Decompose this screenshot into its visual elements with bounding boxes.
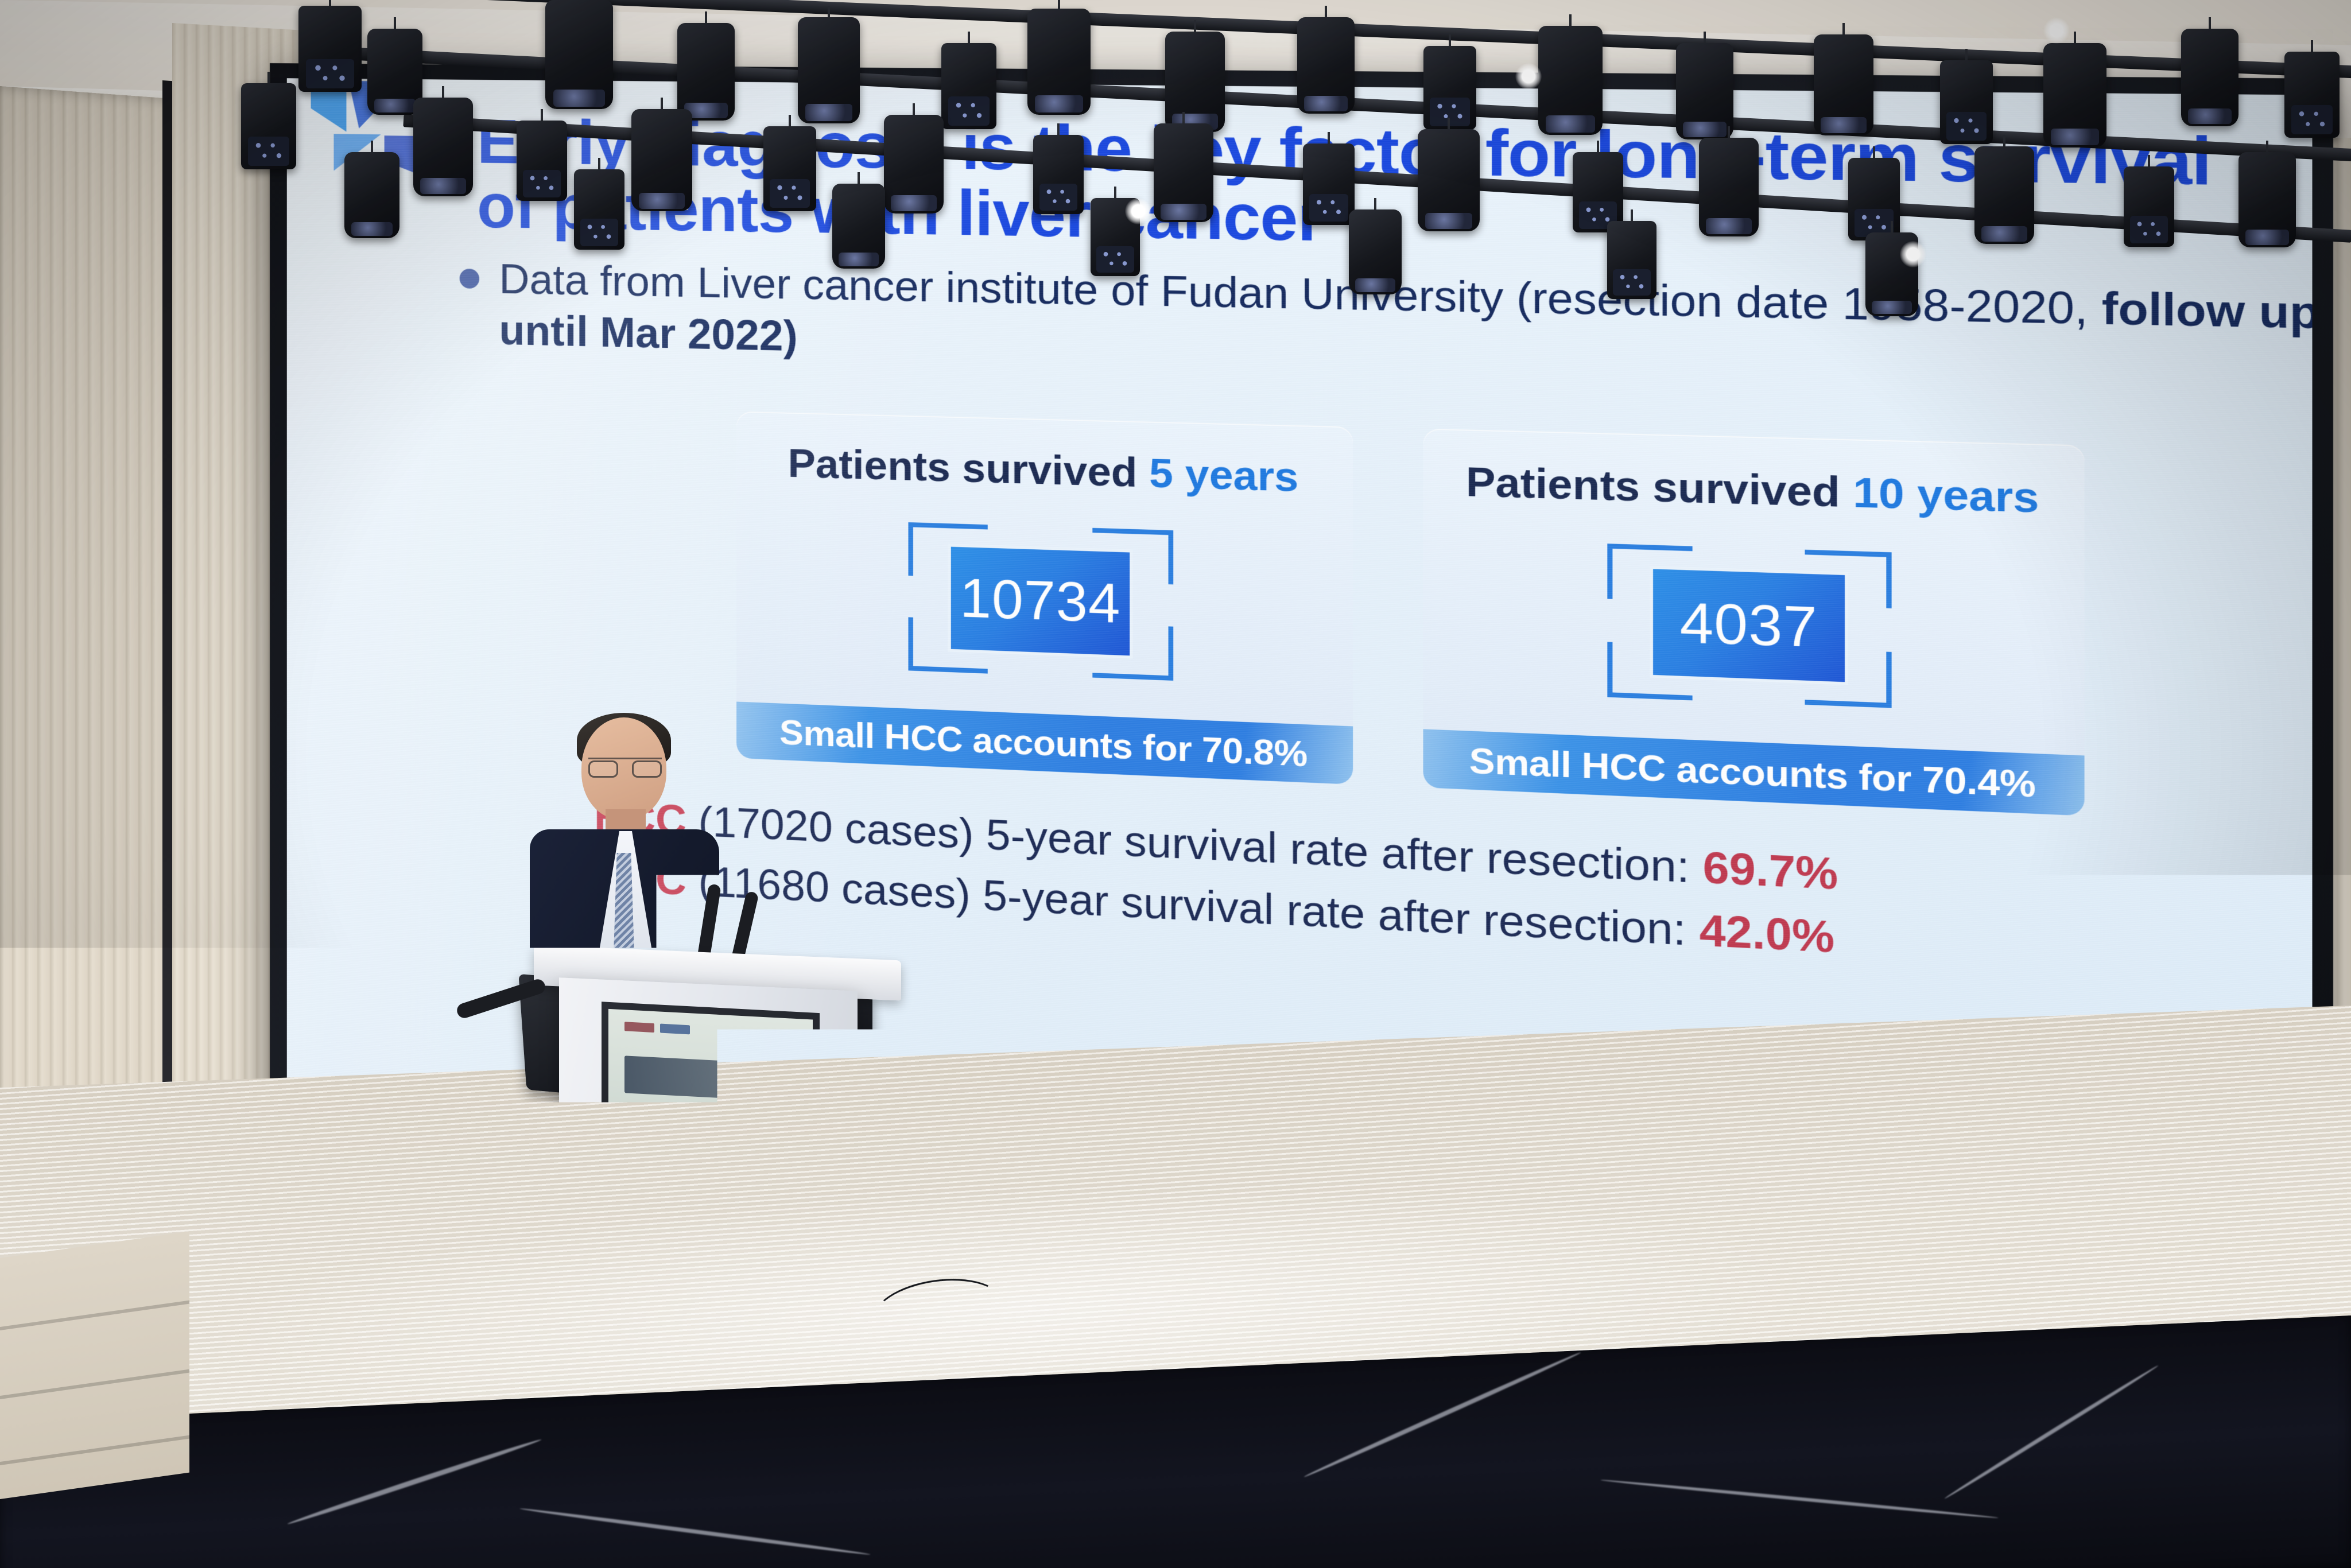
stat-card-10-years: Patients survived 10 years 4037 [1423,428,2084,816]
stat-cards: Patients survived 5 years 10734 [736,411,2229,822]
light-hotspot-4 [2043,17,2070,44]
light-hotspot-1 [1125,198,1151,224]
card-footer-10y: Small HCC accounts for 70.4% [1423,729,2084,816]
stat-card-5-years: Patients survived 5 years 10734 [736,411,1353,784]
card-title-10y: Patients survived 10 years [1423,456,2084,523]
bracket-frame-icon-10y: 4037 [1607,544,1891,708]
speaker-person [519,717,766,1349]
bracket-frame-icon-5y: 10734 [908,522,1173,681]
card-title-5y: Patients survived 5 years [736,438,1353,503]
stat-pct-1: 69.7% [1703,843,1838,899]
light-hotspot-2 [1900,241,1926,267]
stage-steps [0,1232,189,1499]
card-title-static-10y: Patients survived [1466,458,1853,516]
shoe-right [617,1344,686,1364]
card-title-static-5y: Patients survived [788,440,1150,496]
light-hotspot-3 [1515,63,1542,90]
card-title-accent-5y: 5 years [1149,450,1298,500]
value-10y: 4037 [1653,569,1845,682]
shoe-left [541,1344,610,1364]
card-title-accent-10y: 10 years [1853,468,2039,522]
card-footer-5y: Small HCC accounts for 70.8% [736,702,1353,785]
trousers [553,1154,696,1343]
value-5y: 10734 [951,547,1130,656]
value-box-10y: 4037 [1650,566,1848,685]
bullet-text: Data from Liver cancer institute of Fuda… [499,254,2313,398]
bullet-dot-icon [460,269,479,289]
stat-pct-2: 42.0% [1700,906,1835,962]
hand-left [599,1116,644,1154]
glasses-icon [588,758,662,777]
auditorium-room: Early diagnosis is the key factor for lo… [0,0,2351,1568]
value-box-5y: 10734 [948,544,1132,658]
